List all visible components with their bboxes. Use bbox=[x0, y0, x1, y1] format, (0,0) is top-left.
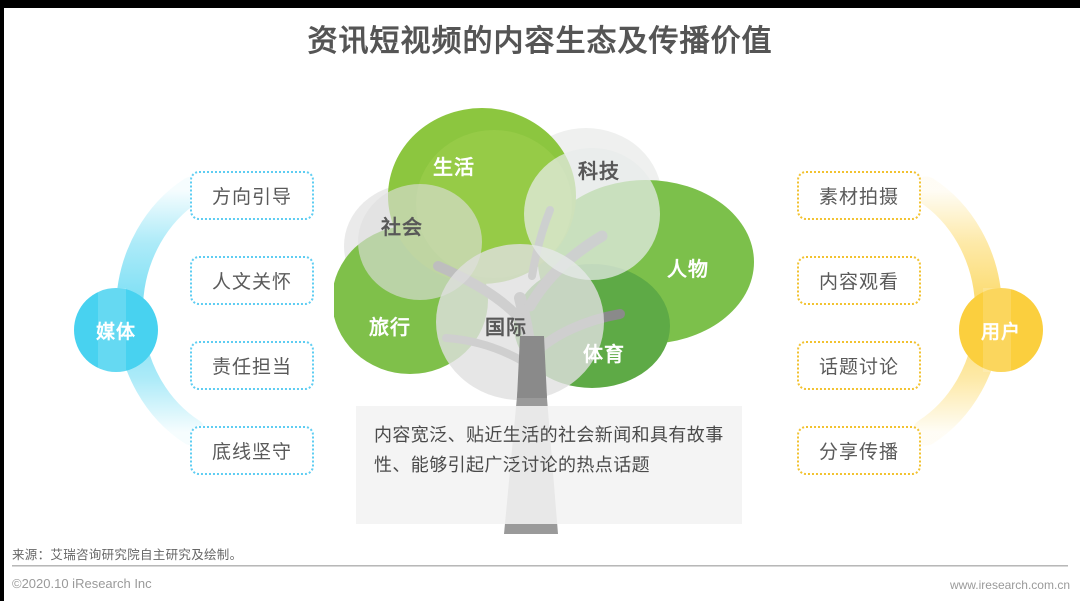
copyright-note: ©2020.10 iResearch Inc bbox=[12, 576, 152, 591]
media-item-1[interactable]: 人文关怀 bbox=[190, 256, 314, 305]
media-item-3[interactable]: 底线坚守 bbox=[190, 426, 314, 475]
leaf-label-sports: 体育 bbox=[583, 342, 625, 366]
media-hub-label: 媒体 bbox=[96, 317, 136, 344]
page-title: 资讯短视频的内容生态及传播价值 bbox=[4, 22, 1076, 62]
leaf-label-tech: 科技 bbox=[578, 159, 620, 183]
leaf-label-people: 人物 bbox=[667, 257, 709, 281]
slide-canvas: 资讯短视频的内容生态及传播价值 bbox=[4, 8, 1080, 601]
user-item-0[interactable]: 素材拍摄 bbox=[797, 171, 921, 220]
source-note: 来源：艾瑞咨询研究院自主研究及绘制。 bbox=[12, 544, 242, 563]
media-item-2[interactable]: 责任担当 bbox=[190, 341, 314, 390]
media-item-0[interactable]: 方向引导 bbox=[190, 171, 314, 220]
tree-trunk-upper bbox=[517, 336, 547, 398]
user-item-1[interactable]: 内容观看 bbox=[797, 256, 921, 305]
user-item-3[interactable]: 分享传播 bbox=[797, 426, 921, 475]
media-hub-circle[interactable]: 媒体 bbox=[74, 288, 158, 372]
leaf-label-travel: 旅行 bbox=[369, 315, 411, 339]
user-hub-circle[interactable]: 用户 bbox=[959, 288, 1043, 372]
tree-description-text: 内容宽泛、贴近生活的社会新闻和具有故事性、能够引起广泛讨论的热点话题 bbox=[374, 420, 724, 480]
leaf-label-life: 生活 bbox=[433, 156, 475, 179]
footer-divider bbox=[12, 565, 1068, 567]
diagram-stage: 生活 科技 社会 人物 旅行 国际 体育 内容宽泛、贴近生活的社会新闻和具有故事… bbox=[4, 86, 1076, 536]
user-hub-label: 用户 bbox=[981, 317, 1021, 344]
leaf-label-society: 社会 bbox=[380, 215, 423, 239]
leaf-label-international: 国际 bbox=[485, 316, 527, 339]
leaf-blob-social-front bbox=[358, 184, 482, 300]
website-link[interactable]: www.iresearch.com.cn bbox=[950, 578, 1070, 592]
tree-description-box: 内容宽泛、贴近生活的社会新闻和具有故事性、能够引起广泛讨论的热点话题 bbox=[356, 406, 742, 524]
user-item-2[interactable]: 话题讨论 bbox=[797, 341, 921, 390]
